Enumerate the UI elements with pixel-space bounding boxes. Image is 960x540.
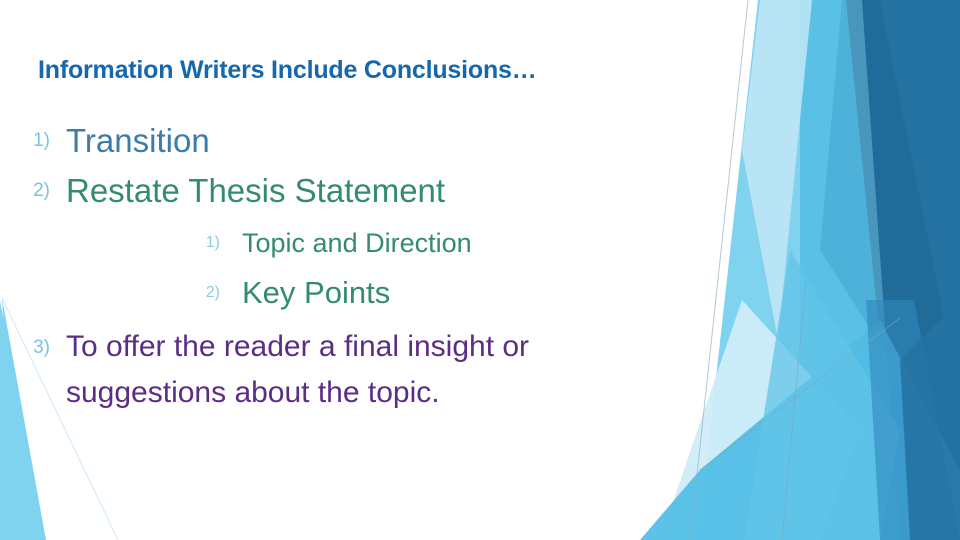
decor-shape-lower-sky <box>744 250 900 540</box>
sublist-item-number: 1) <box>0 224 242 262</box>
slide-canvas: Information Writers Include Conclusions…… <box>0 0 960 540</box>
list-item: 3) To offer the reader a final insight o… <box>0 324 760 416</box>
decor-shape-cluster-dark-right <box>862 0 960 540</box>
list-item-label: Restate Thesis Statement <box>66 168 445 214</box>
decor-hairline-vertical-2 <box>782 280 806 540</box>
sublist-item-label: Key Points <box>242 274 390 312</box>
list-item-number: 3) <box>0 324 66 372</box>
list-item-number: 2) <box>0 168 66 214</box>
decor-shape-cluster-deepfold <box>820 0 960 470</box>
decor-shape-right-dark-band <box>836 0 960 540</box>
list-item-label: Transition <box>66 118 210 164</box>
list-item: 2) Restate Thesis Statement <box>0 168 760 214</box>
slide-body-content: 1) Transition 2) Restate Thesis Statemen… <box>0 118 760 420</box>
decor-shape-lower-steel <box>866 300 960 540</box>
sublist-item-number: 2) <box>0 274 242 312</box>
list-item-label: To offer the reader a final insight or s… <box>66 324 666 416</box>
sublist-item-label: Topic and Direction <box>242 224 472 262</box>
sublist-item: 1) Topic and Direction <box>0 224 760 262</box>
list-item: 1) Transition <box>0 118 760 164</box>
slide-title: Information Writers Include Conclusions… <box>38 56 828 85</box>
sublist: 1) Topic and Direction 2) Key Points <box>0 224 760 312</box>
sublist-item: 2) Key Points <box>0 274 760 312</box>
decor-shape-lower-deep-right <box>900 300 960 540</box>
decor-shape-right-deep <box>860 0 960 430</box>
list-item-number: 1) <box>0 118 66 164</box>
